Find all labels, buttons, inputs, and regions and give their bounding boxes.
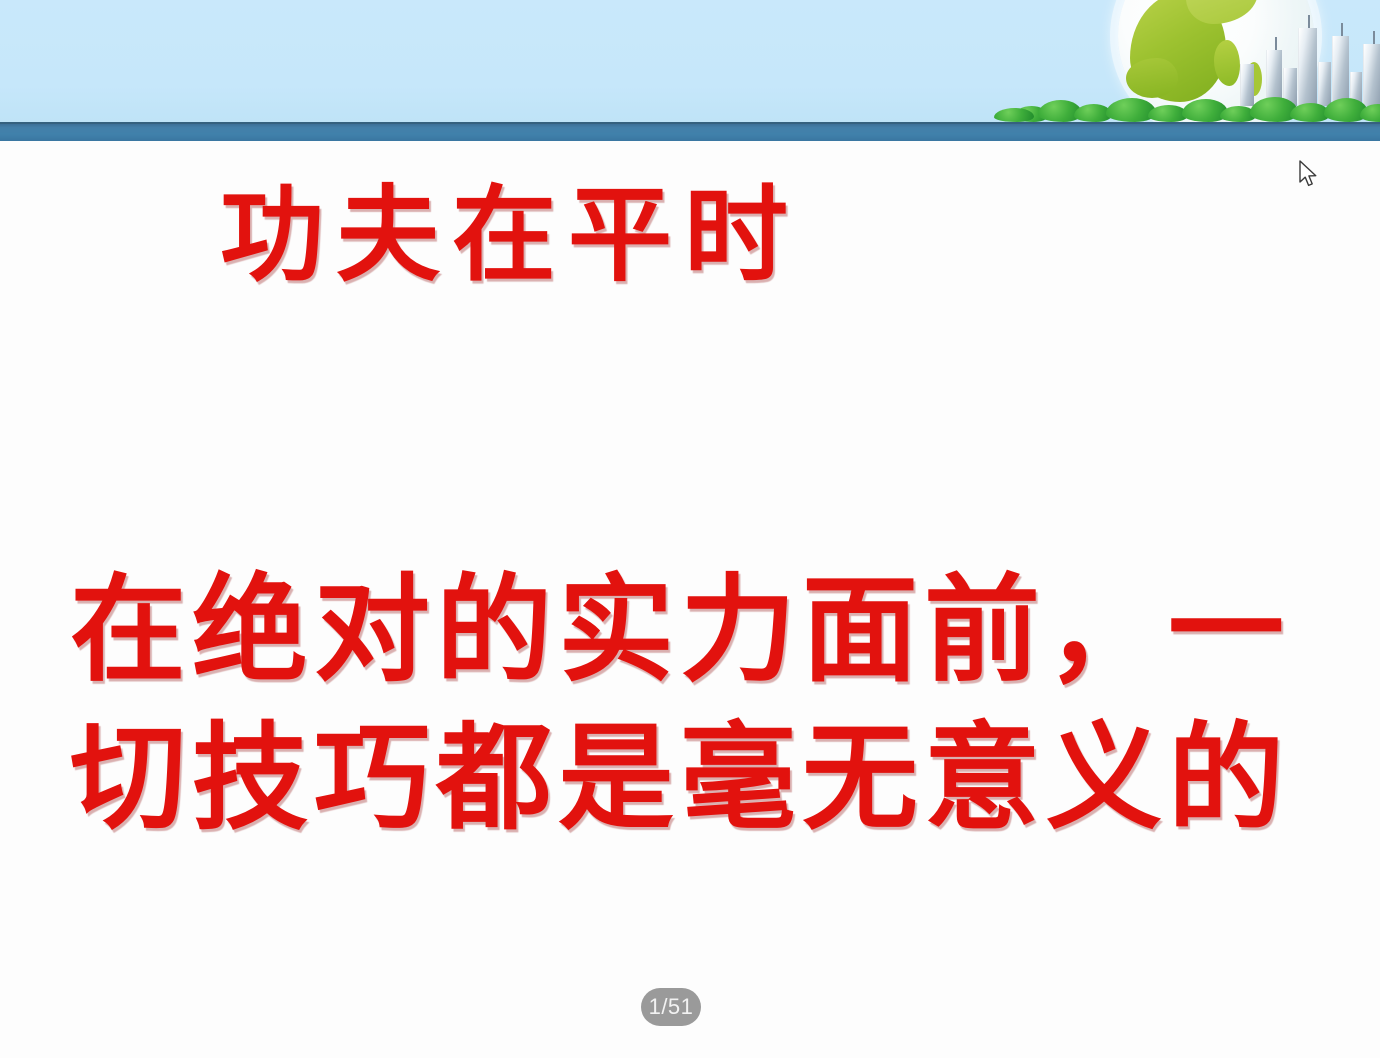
presentation-slide: 功夫在平时 在绝对的实力面前，一 切技巧都是毫无意义的 1/51 xyxy=(0,0,1380,1058)
page-indicator[interactable]: 1/51 xyxy=(641,988,701,1026)
body-line-1: 在绝对的实力面前，一 xyxy=(70,556,1310,704)
body-line-2: 切技巧都是毫无意义的 xyxy=(70,704,1310,852)
slide-body-text: 在绝对的实力面前，一 切技巧都是毫无意义的 xyxy=(70,556,1310,853)
header-divider-bar xyxy=(0,122,1380,141)
slide-header-banner xyxy=(0,0,1380,122)
treeline-foliage xyxy=(1012,90,1380,122)
slide-title: 功夫在平时 xyxy=(0,178,1380,292)
